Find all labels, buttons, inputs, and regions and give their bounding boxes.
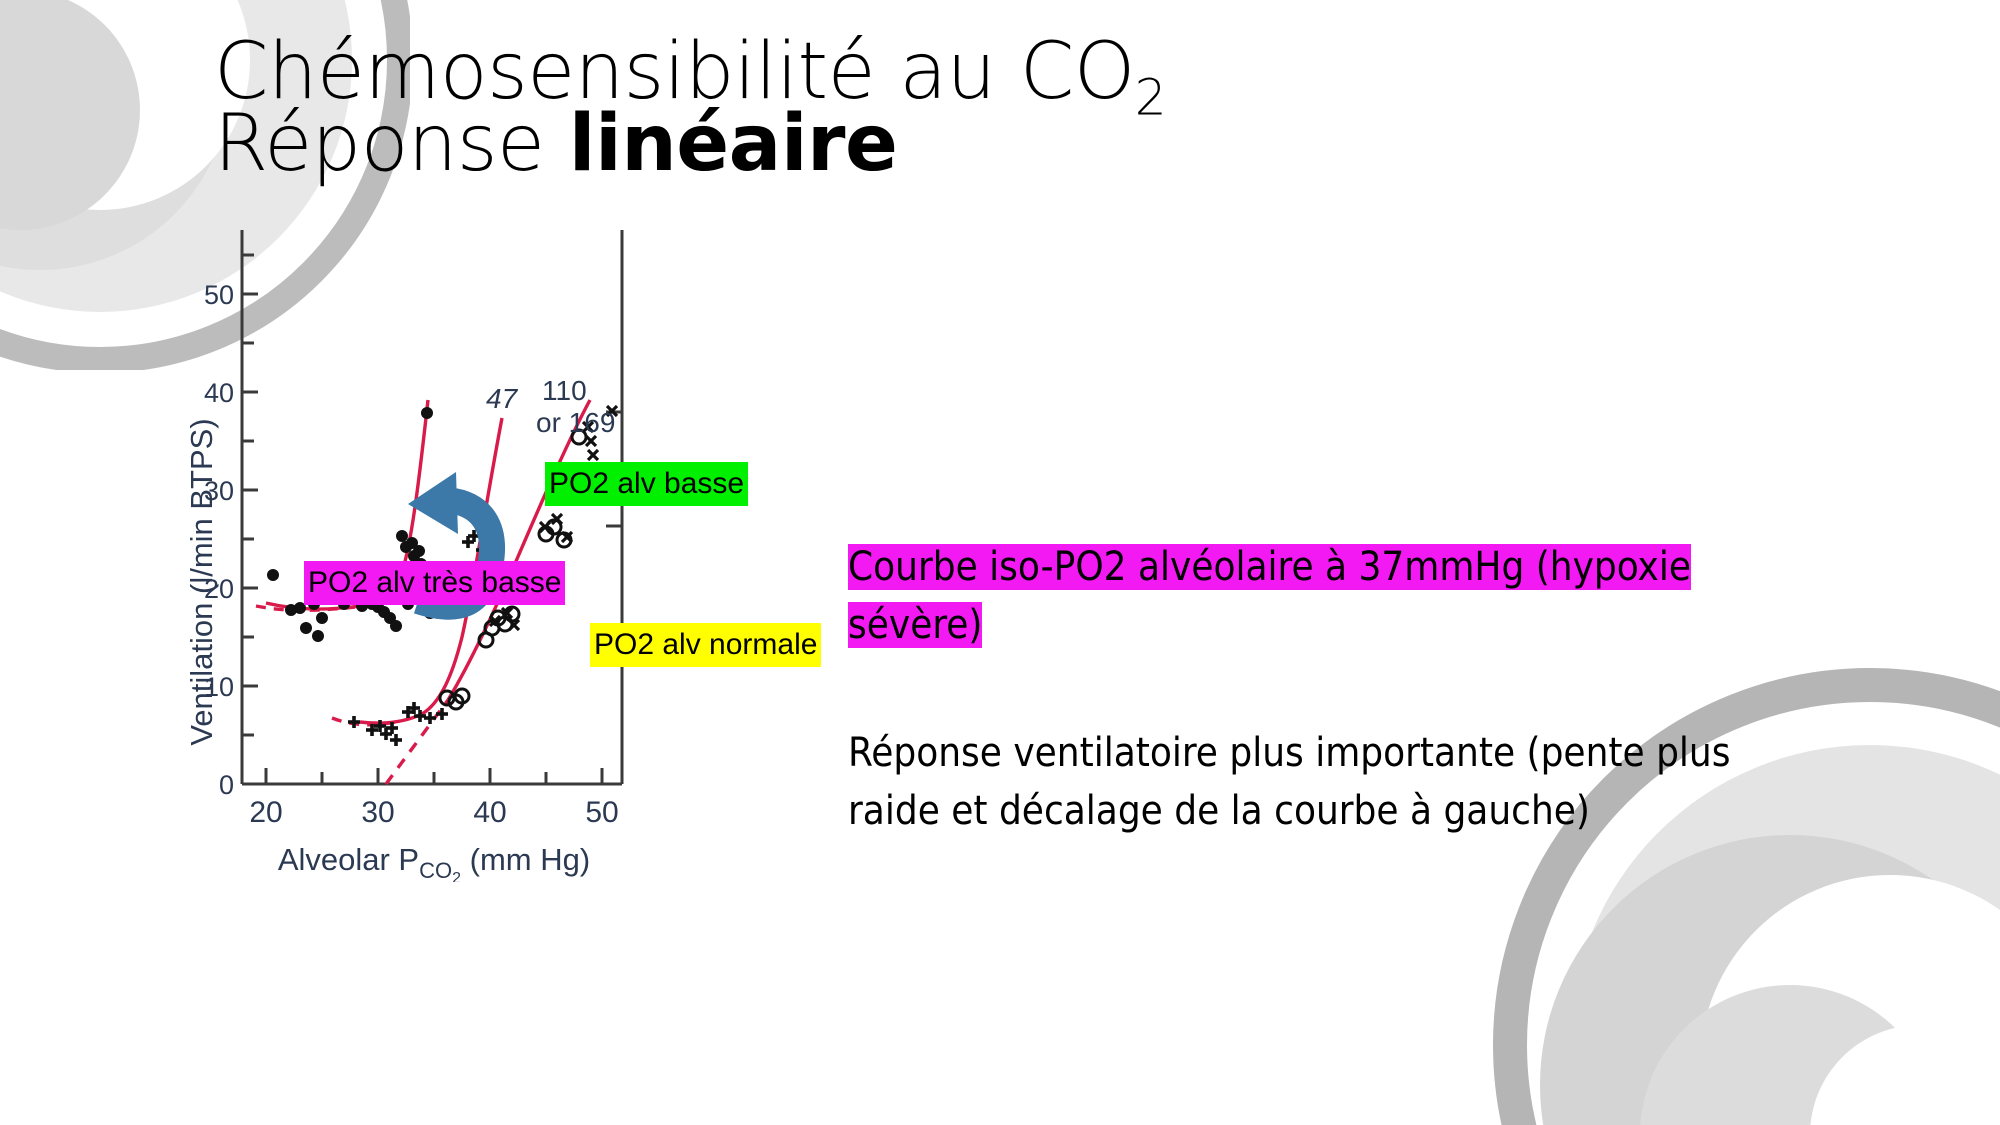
body-paragraph-line-1: Réponse ventilatoire plus importante (pe…: [848, 724, 1868, 782]
svg-text:0: 0: [219, 770, 234, 800]
curve-po2-110: [448, 400, 590, 700]
highlighted-statement-line-1: Courbe iso-PO2 alvéolaire à 37mmHg (hypo…: [848, 544, 1691, 590]
body-paragraph-line-2: raide et décalage de la courbe à gauche): [848, 782, 1868, 840]
x-axis-ticks: [266, 768, 602, 784]
svg-text:40: 40: [204, 378, 234, 408]
highlighted-statement: Courbe iso-PO2 alvéolaire à 37mmHg (hypo…: [848, 538, 1908, 654]
callout-po2-alv-basse[interactable]: PO2 alv basse: [545, 462, 748, 506]
body-paragraph: Réponse ventilatoire plus importante (pe…: [848, 724, 1868, 840]
title-line-1-subscript: 2: [1135, 69, 1166, 127]
x-axis-tick-labels: 20 30 40 50: [249, 796, 618, 829]
y-axis-ticks: [242, 255, 258, 784]
title-line-1: Chémosensibilité au CO2: [214, 36, 1314, 108]
y-axis-title: Ventilation (l/min BTPS): [190, 418, 219, 745]
ventilation-co2-response-chart: 0 10 20 30 40 50: [190, 222, 850, 882]
svg-text:40: 40: [473, 796, 506, 829]
x-axis-title: Alveolar PCO2 (mm Hg): [278, 842, 590, 882]
slide: Chémosensibilité au CO2 Réponse linéaire: [0, 0, 2000, 1125]
annotation-47: 47: [486, 383, 519, 414]
svg-text:50: 50: [585, 796, 618, 829]
svg-text:30: 30: [361, 796, 394, 829]
title-line-2-bold: linéaire: [569, 99, 898, 189]
svg-text:20: 20: [249, 796, 282, 829]
highlighted-statement-line-2: sévère): [848, 602, 982, 648]
svg-text:50: 50: [204, 280, 234, 310]
right-text-column: Courbe iso-PO2 alvéolaire à 37mmHg (hypo…: [848, 538, 1908, 654]
callout-po2-alv-tres-basse[interactable]: PO2 alv très basse: [304, 561, 565, 605]
callout-po2-alv-normale[interactable]: PO2 alv normale: [590, 623, 821, 667]
page-title: Chémosensibilité au CO2 Réponse linéaire: [214, 36, 1314, 180]
title-line-2-normal: Réponse: [214, 99, 569, 189]
annotation-or-169: or 169: [536, 407, 615, 438]
annotation-110: 110: [542, 375, 587, 406]
